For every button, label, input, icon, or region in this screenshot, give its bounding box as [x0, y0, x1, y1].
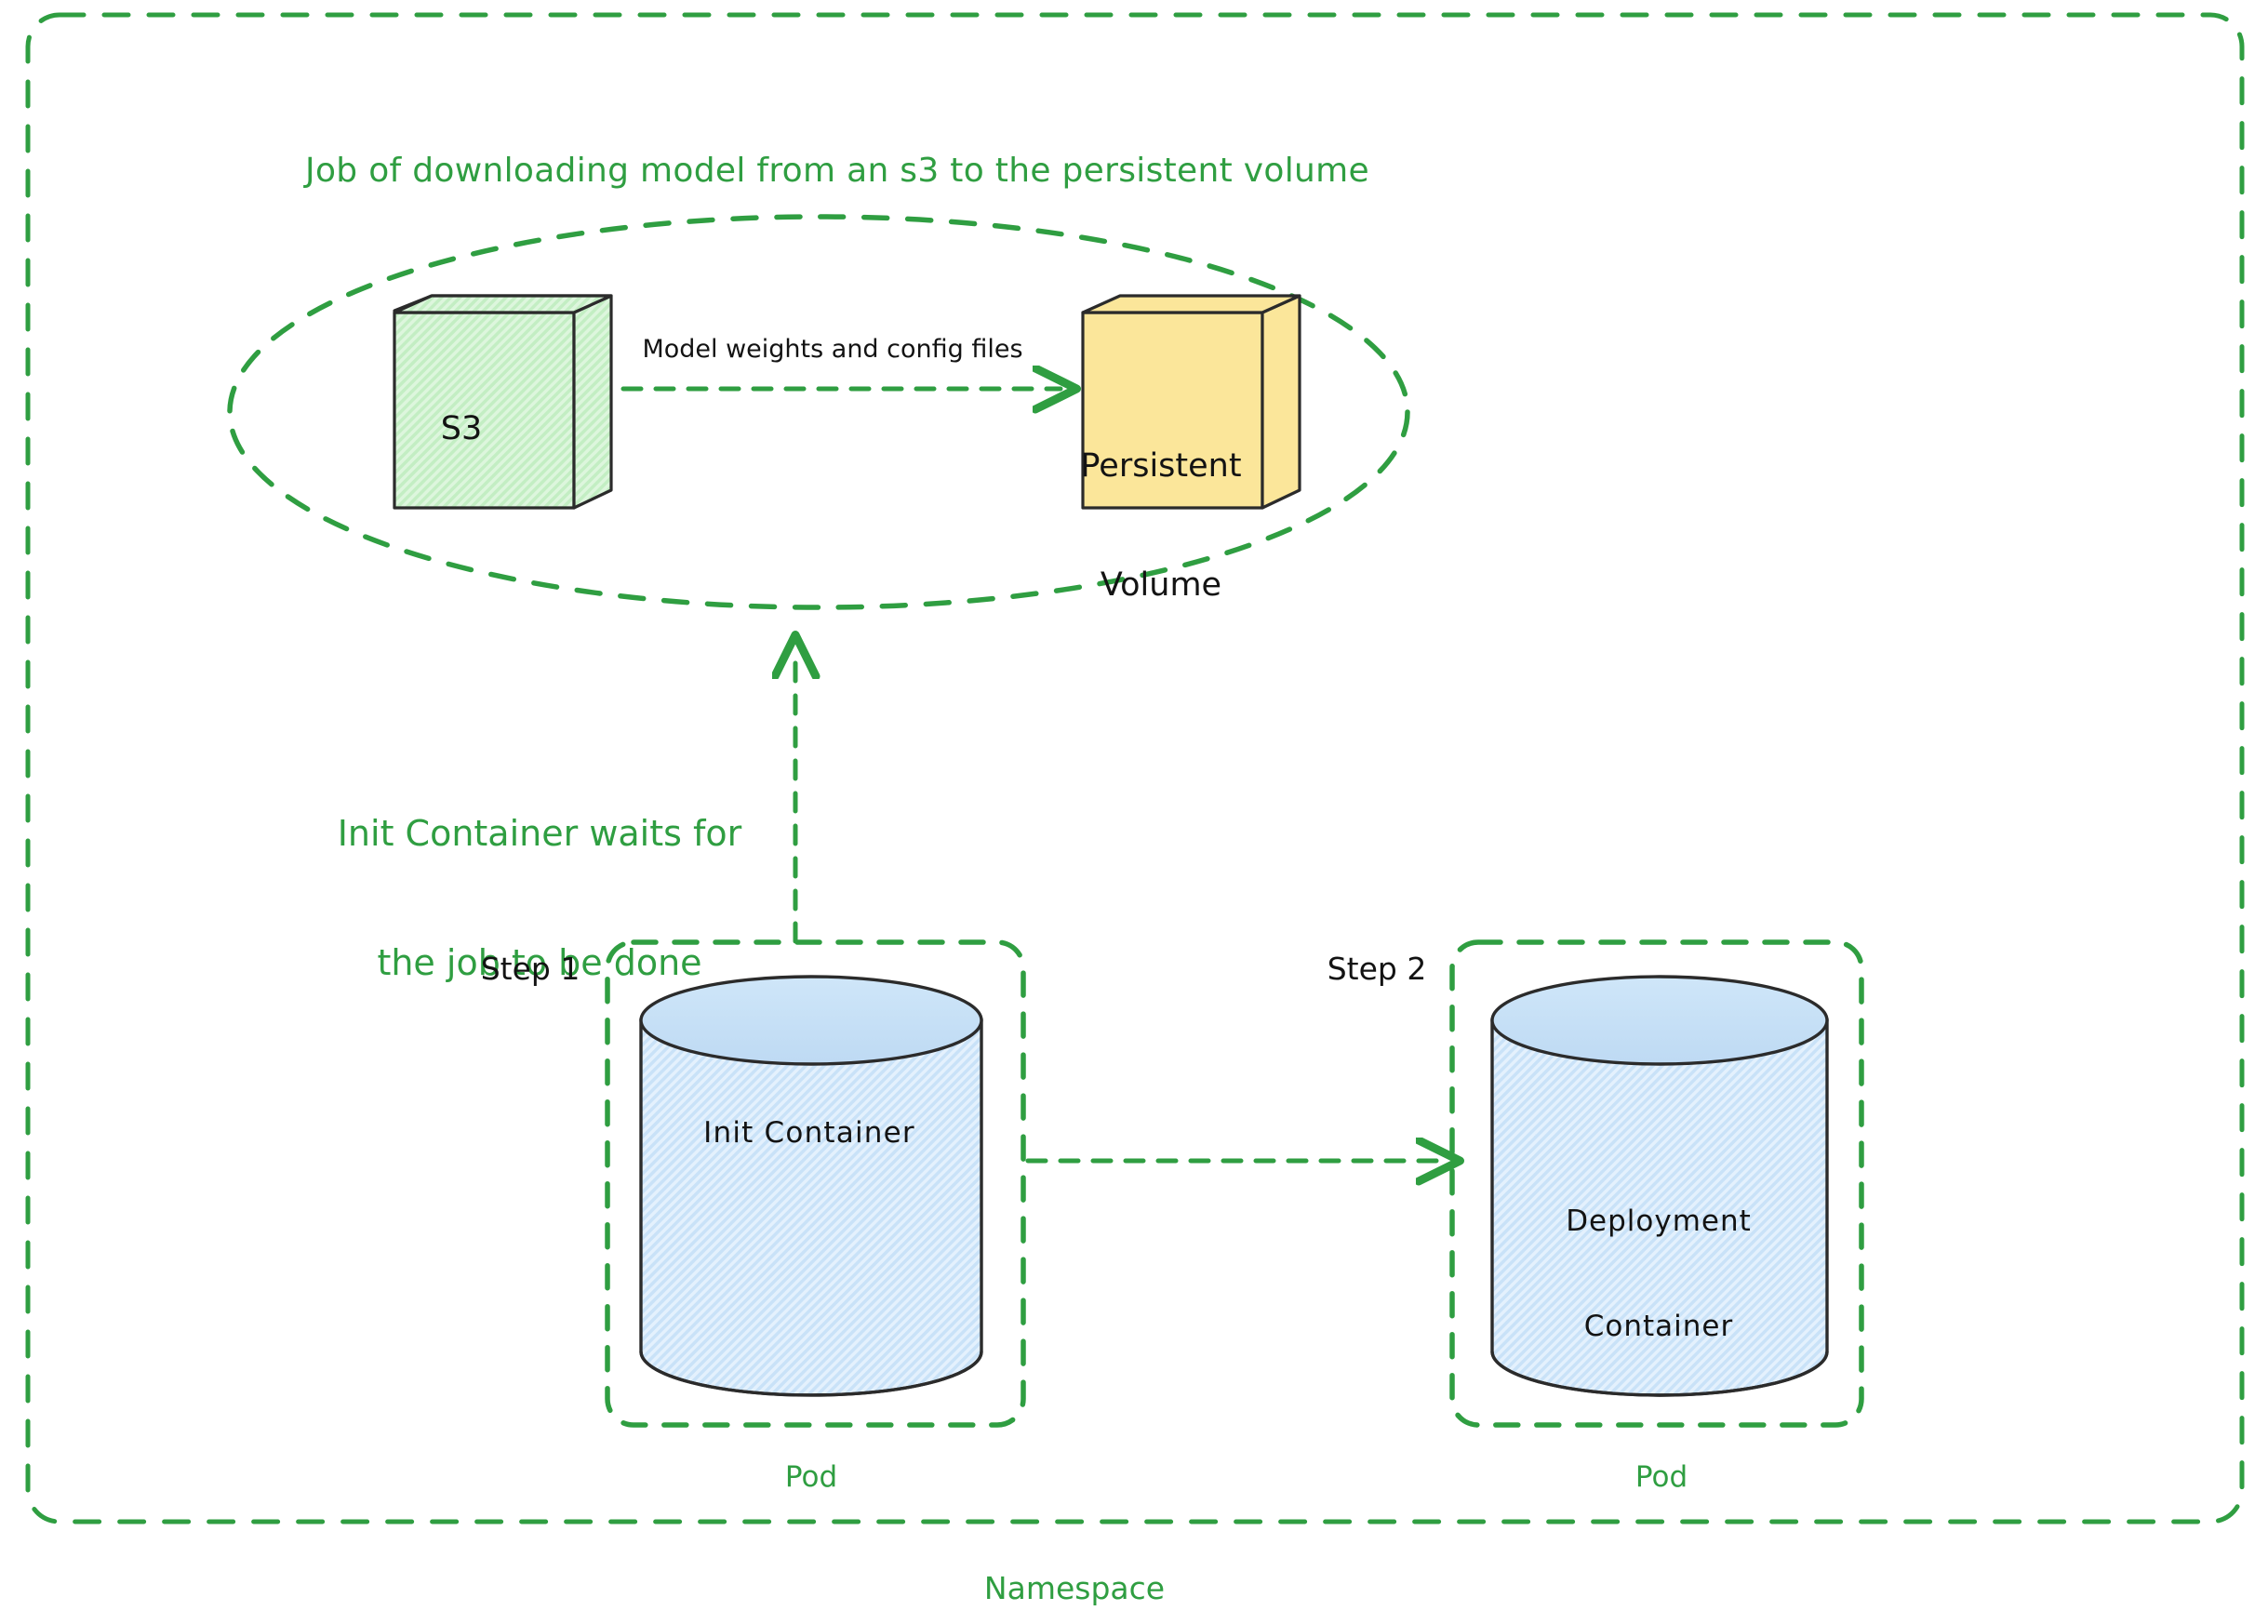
init-container-cylinder-icon: [641, 977, 981, 1395]
deployment-container-cylinder-icon: [1492, 977, 1827, 1395]
s3-cube-icon: [394, 296, 611, 508]
persistent-volume-cube-icon: [1083, 296, 1300, 508]
diagram-vector-layer: [0, 0, 2268, 1624]
namespace-boundary: [28, 15, 2242, 1522]
diagram-canvas: Job of downloading model from an s3 to t…: [0, 0, 2268, 1624]
